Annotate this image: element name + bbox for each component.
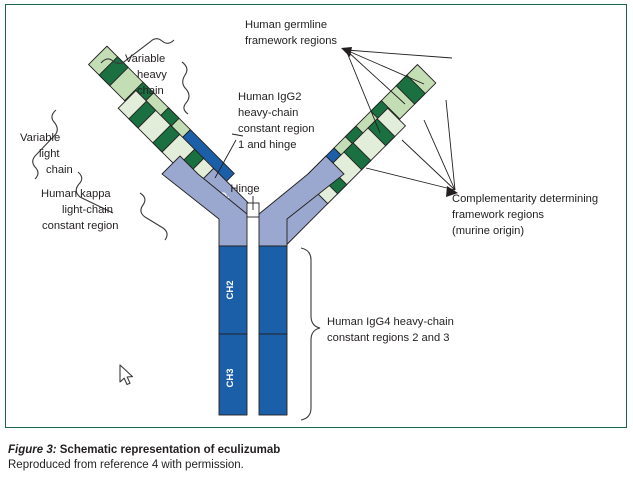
variable-heavy-brace-right — [182, 62, 189, 114]
igg4-brace — [301, 248, 320, 420]
ch3-right-box — [259, 334, 287, 415]
caption-figure-number: Figure 3: — [8, 444, 57, 456]
kappa-brace — [140, 193, 167, 240]
igg4-label-line2: constant regions 2 and 3 — [327, 332, 450, 344]
igg2-label-line4: 1 and hinge — [238, 139, 296, 151]
cdr-label-line2: framework regions — [452, 209, 544, 221]
mouse-cursor — [120, 365, 133, 385]
ch3-label: CH3 — [225, 368, 236, 387]
igg2-label-line1: Human IgG2 — [238, 91, 301, 103]
kappa-label-line2: light-chain — [62, 204, 113, 216]
cdr-label-line3: (murine origin) — [452, 225, 524, 237]
germline-arrow-head — [341, 47, 352, 57]
germline-label-line2: framework regions — [245, 35, 337, 47]
caption-source: Reproduced from reference 4 with permiss… — [8, 458, 623, 473]
variable-light-line3: chain — [46, 164, 73, 176]
ch2-label: CH2 — [225, 280, 236, 299]
igg4-label-line1: Human IgG4 heavy-chain — [327, 316, 454, 328]
hinge-label: Hinge — [230, 183, 259, 195]
kappa-label-line3: constant region — [42, 220, 119, 232]
hinge-right-fork — [259, 156, 344, 246]
cdr-label-line1: Complementarity determining — [452, 193, 598, 205]
caption-title-line: Figure 3: Schematic representation of ec… — [8, 443, 623, 458]
variable-heavy-line2: heavy — [137, 69, 167, 81]
germline-label-line1: Human germline — [245, 19, 327, 31]
igg2-label-line2: heavy-chain — [238, 107, 298, 119]
ch2-right-box — [259, 246, 287, 334]
caption-title-text: Schematic representation of eculizumab — [60, 444, 280, 456]
variable-light-line2: light — [39, 148, 60, 160]
variable-heavy-line1: Variable — [125, 53, 165, 65]
figure-caption: Figure 3: Schematic representation of ec… — [8, 443, 623, 473]
antibody-schematic: CH1 CL — [0, 0, 633, 430]
kappa-label-line1: Human kappa — [41, 188, 111, 200]
figure-page: CH1 CL — [0, 0, 633, 485]
igg2-label-line3: constant region — [238, 123, 315, 135]
variable-heavy-line3: chain — [137, 85, 164, 97]
variable-light-line1: Variable — [20, 132, 60, 144]
